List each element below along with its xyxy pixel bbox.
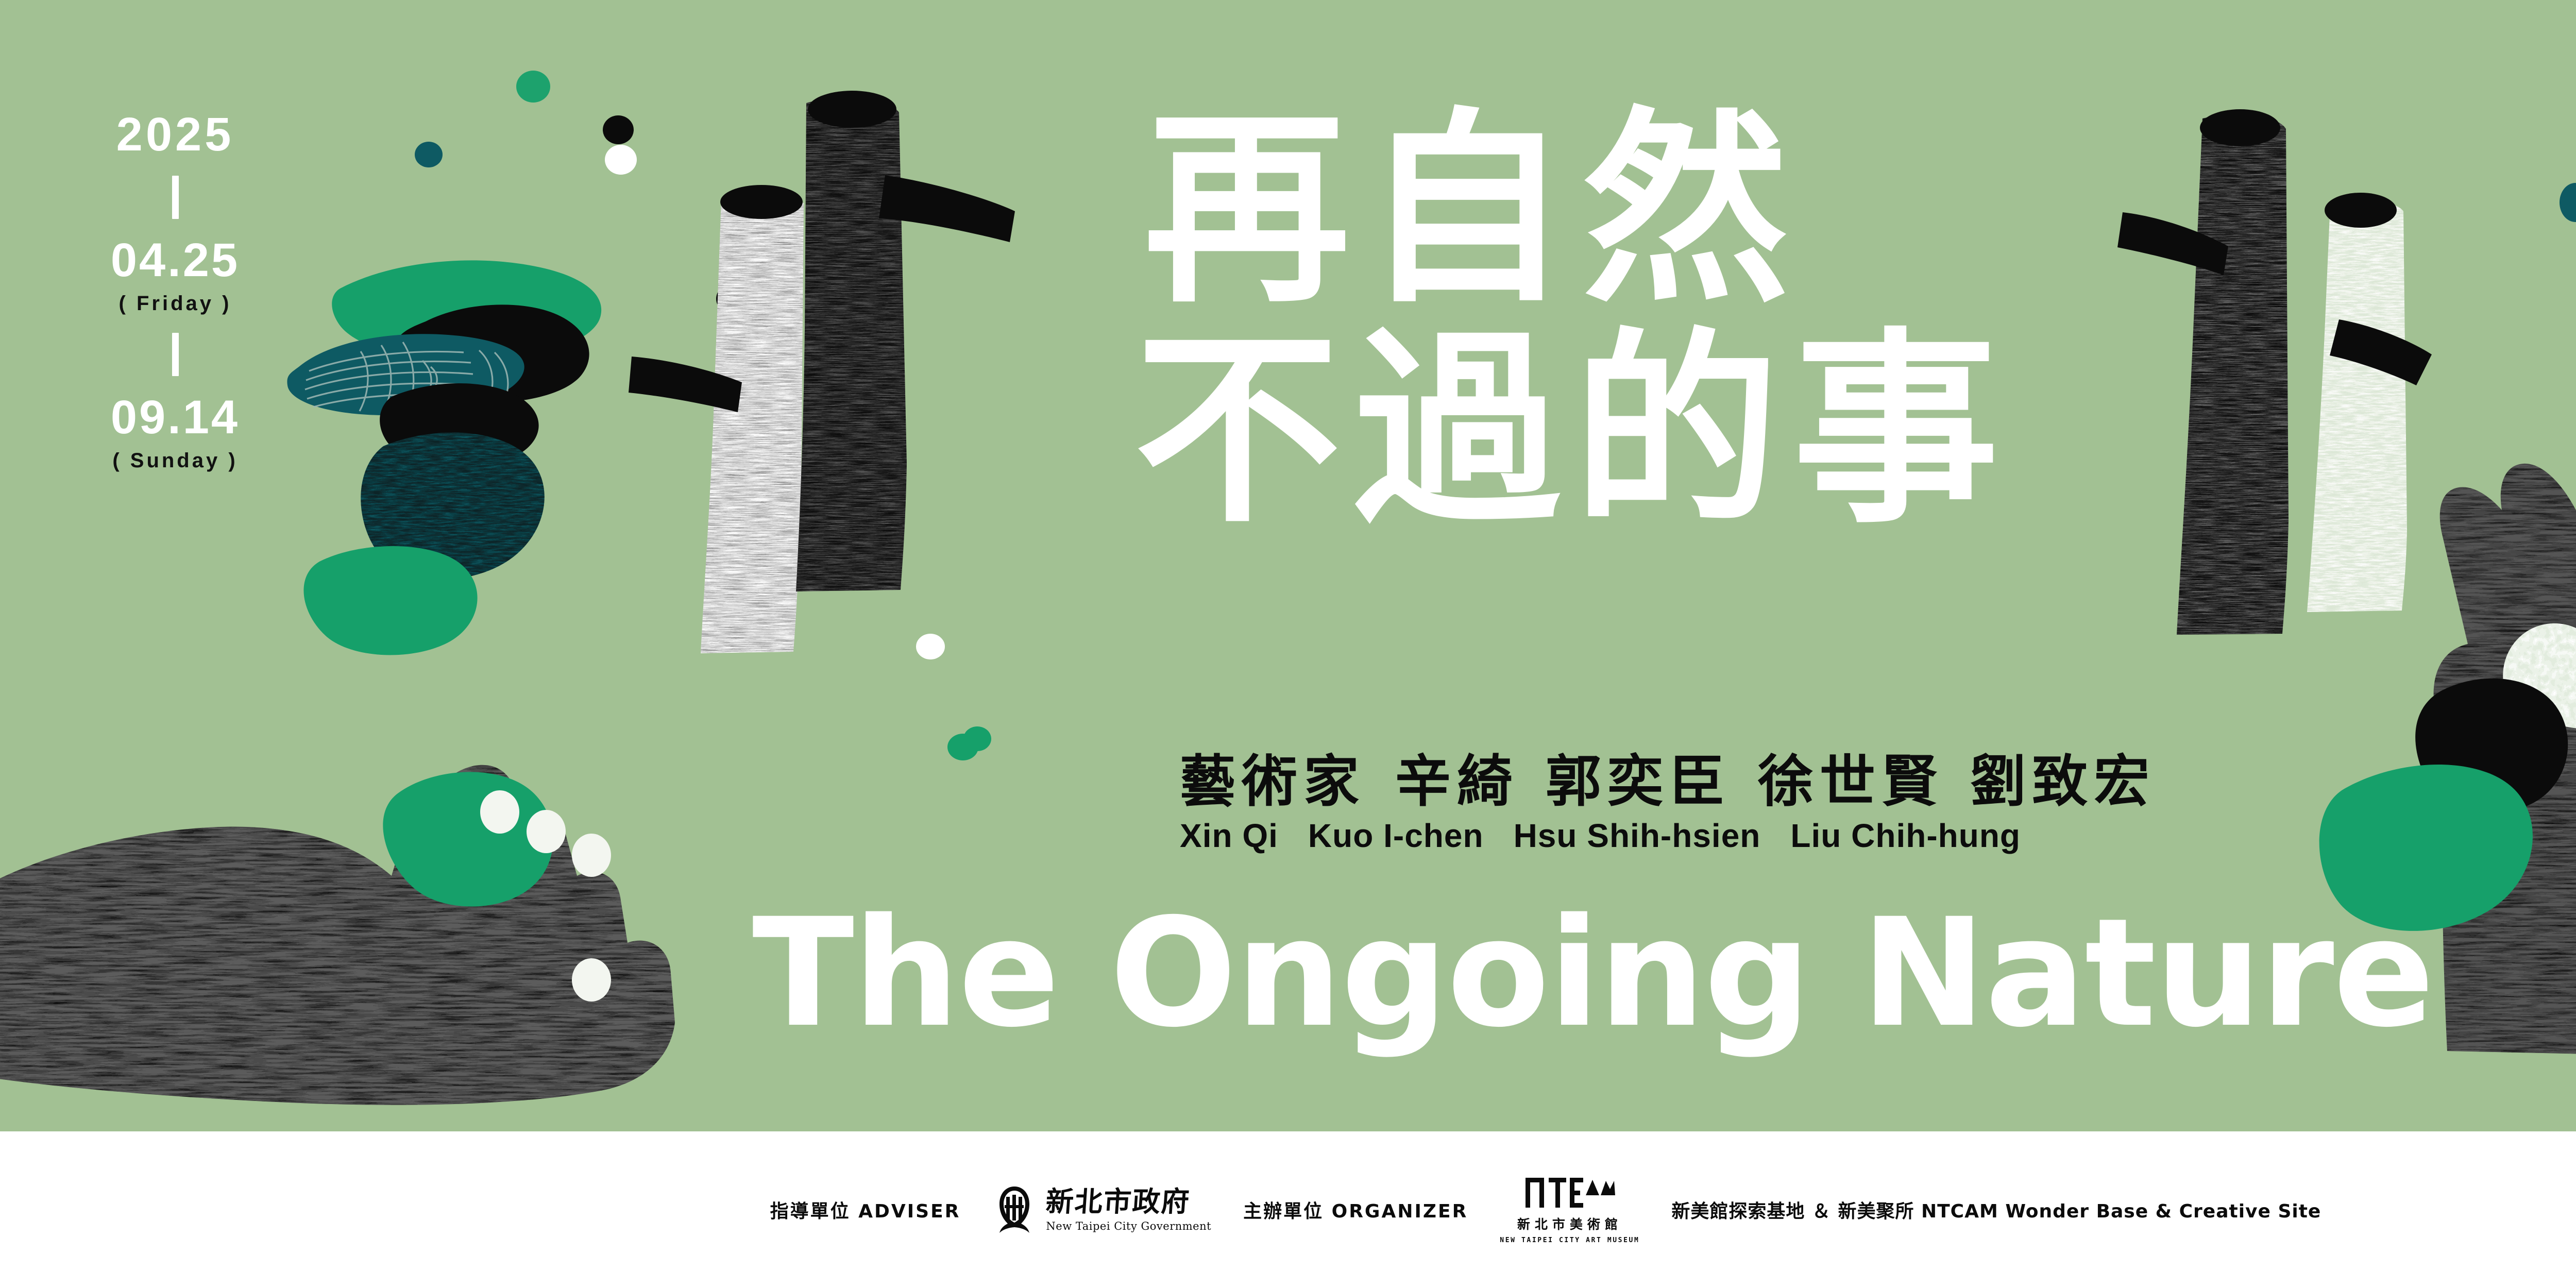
adviser-name-chinese: 新北市政府	[1045, 1188, 1192, 1215]
date-divider-2	[172, 333, 179, 376]
artist-name-chinese: 辛綺	[1395, 750, 1519, 814]
artist-list-chinese: 藝術家辛綺郭奕臣徐世賢劉致宏	[1180, 737, 2210, 817]
artist-name-chinese: 郭奕臣	[1546, 750, 1731, 814]
adviser-credit: 指導單位 ADVISER 新北市政府 New Taipei City Gover…	[770, 1184, 1211, 1235]
poster-green-band: 2025 04.25 ( Friday ) 09.14 ( Sunday ) 再…	[0, 0, 2576, 1131]
exhibition-title-chinese: 再自然 不過的事	[1144, 100, 2081, 541]
artist-name-english: Liu Chih-hung	[1790, 817, 2021, 854]
date-start: 04.25	[67, 236, 283, 284]
date-start-weekday: ( Friday )	[67, 292, 283, 315]
footer-credits-bar: 指導單位 ADVISER 新北市政府 New Taipei City Gover…	[0, 1131, 2576, 1288]
artist-name-chinese: 劉致宏	[1970, 750, 2156, 814]
date-end: 09.14	[67, 394, 283, 441]
new-taipei-city-government-logo: 新北市政府 New Taipei City Government	[992, 1184, 1211, 1235]
hand-right	[2421, 325, 2576, 1072]
organizer-credit: 主辦單位 ORGANIZER	[1211, 1176, 1639, 1244]
date-divider-1	[172, 176, 179, 219]
title-chinese-line-1: 再自然	[1144, 100, 2081, 321]
ntcam-wordmark-icon	[1524, 1176, 1615, 1210]
city-government-emblem-icon	[992, 1184, 1037, 1235]
woodgrain-pebble	[287, 334, 524, 415]
venue-name: 新美館探索基地 ＆ 新美聚所 NTCAM Wonder Base & Creat…	[1671, 1196, 2321, 1223]
poster-banner: 2025 04.25 ( Friday ) 09.14 ( Sunday ) 再…	[0, 0, 2576, 1288]
venue-credit: 新美館探索基地 ＆ 新美聚所 NTCAM Wonder Base & Creat…	[1639, 1196, 2321, 1223]
organizer-label: 主辦單位 ORGANIZER	[1243, 1196, 1468, 1223]
artist-name-english: Kuo I-chen	[1308, 817, 1484, 854]
date-end-weekday: ( Sunday )	[67, 449, 283, 472]
artist-name-english: Xin Qi	[1180, 817, 1278, 854]
title-chinese-line-2: 不過的事	[1134, 321, 2081, 541]
ntcam-name-chinese: 新北市美術館	[1517, 1214, 1622, 1233]
exhibition-dates: 2025 04.25 ( Friday ) 09.14 ( Sunday )	[67, 111, 283, 472]
hand-bottom-left	[0, 757, 701, 1118]
tree-trunk-pair-left	[629, 91, 1015, 659]
artist-name-english: Hsu Shih-hsien	[1514, 817, 1761, 854]
exhibition-title-english: The Ongoing Nature	[752, 899, 2401, 1048]
artist-label-chinese: 藝術家	[1180, 750, 1365, 814]
ntcam-name-english: NEW TAIPEI CITY ART MUSEUM	[1500, 1236, 1639, 1244]
artist-list-english: Xin QiKuo I-chenHsu Shih-hsienLiu Chih-h…	[1180, 817, 2313, 855]
pebble-stack	[287, 260, 601, 655]
artist-name-chinese: 徐世賢	[1758, 750, 1943, 814]
adviser-name-english: New Taipei City Government	[1046, 1220, 1211, 1232]
date-year: 2025	[67, 111, 283, 158]
ntcam-logo: 新北市美術館 NEW TAIPEI CITY ART MUSEUM	[1500, 1176, 1639, 1244]
adviser-label: 指導單位 ADVISER	[770, 1196, 961, 1223]
tree-trunk-pair-right	[2117, 109, 2432, 641]
